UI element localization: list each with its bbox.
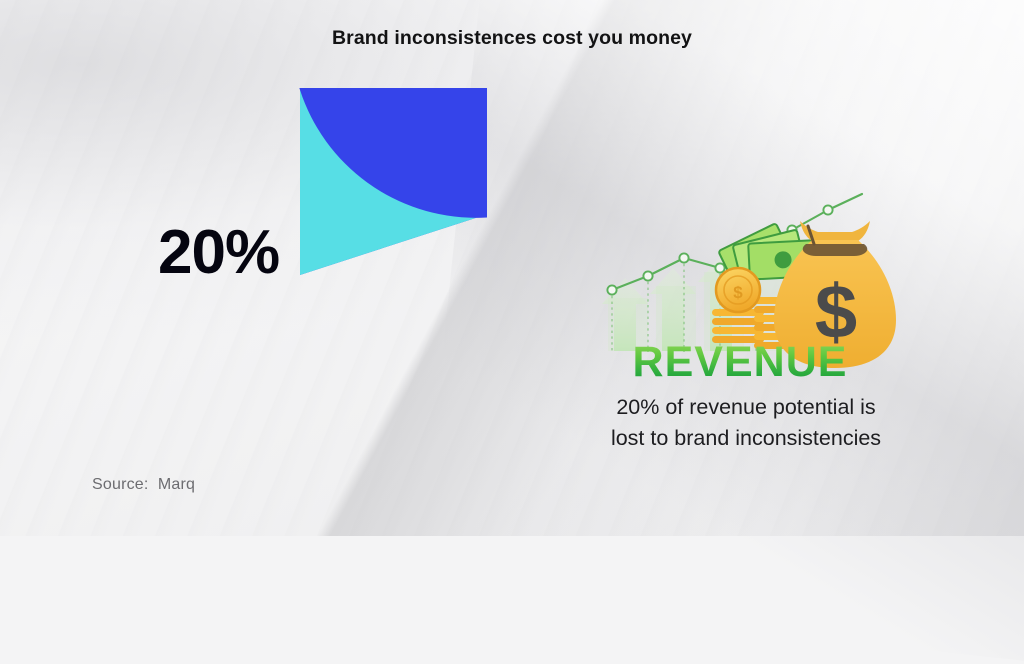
caption: 20% of revenue potential is lost to bran…: [546, 392, 946, 453]
source-note: Source: Marq: [92, 476, 195, 494]
svg-text:$: $: [733, 283, 743, 302]
revenue-wordmark: REVENUE: [606, 341, 874, 384]
caption-line-1: 20% of revenue potential is: [546, 392, 946, 423]
page-title: Brand inconsistences cost you money: [0, 27, 1024, 50]
pie-center-label: 20%: [158, 222, 279, 284]
caption-line-2: lost to brand inconsistencies: [546, 423, 946, 454]
